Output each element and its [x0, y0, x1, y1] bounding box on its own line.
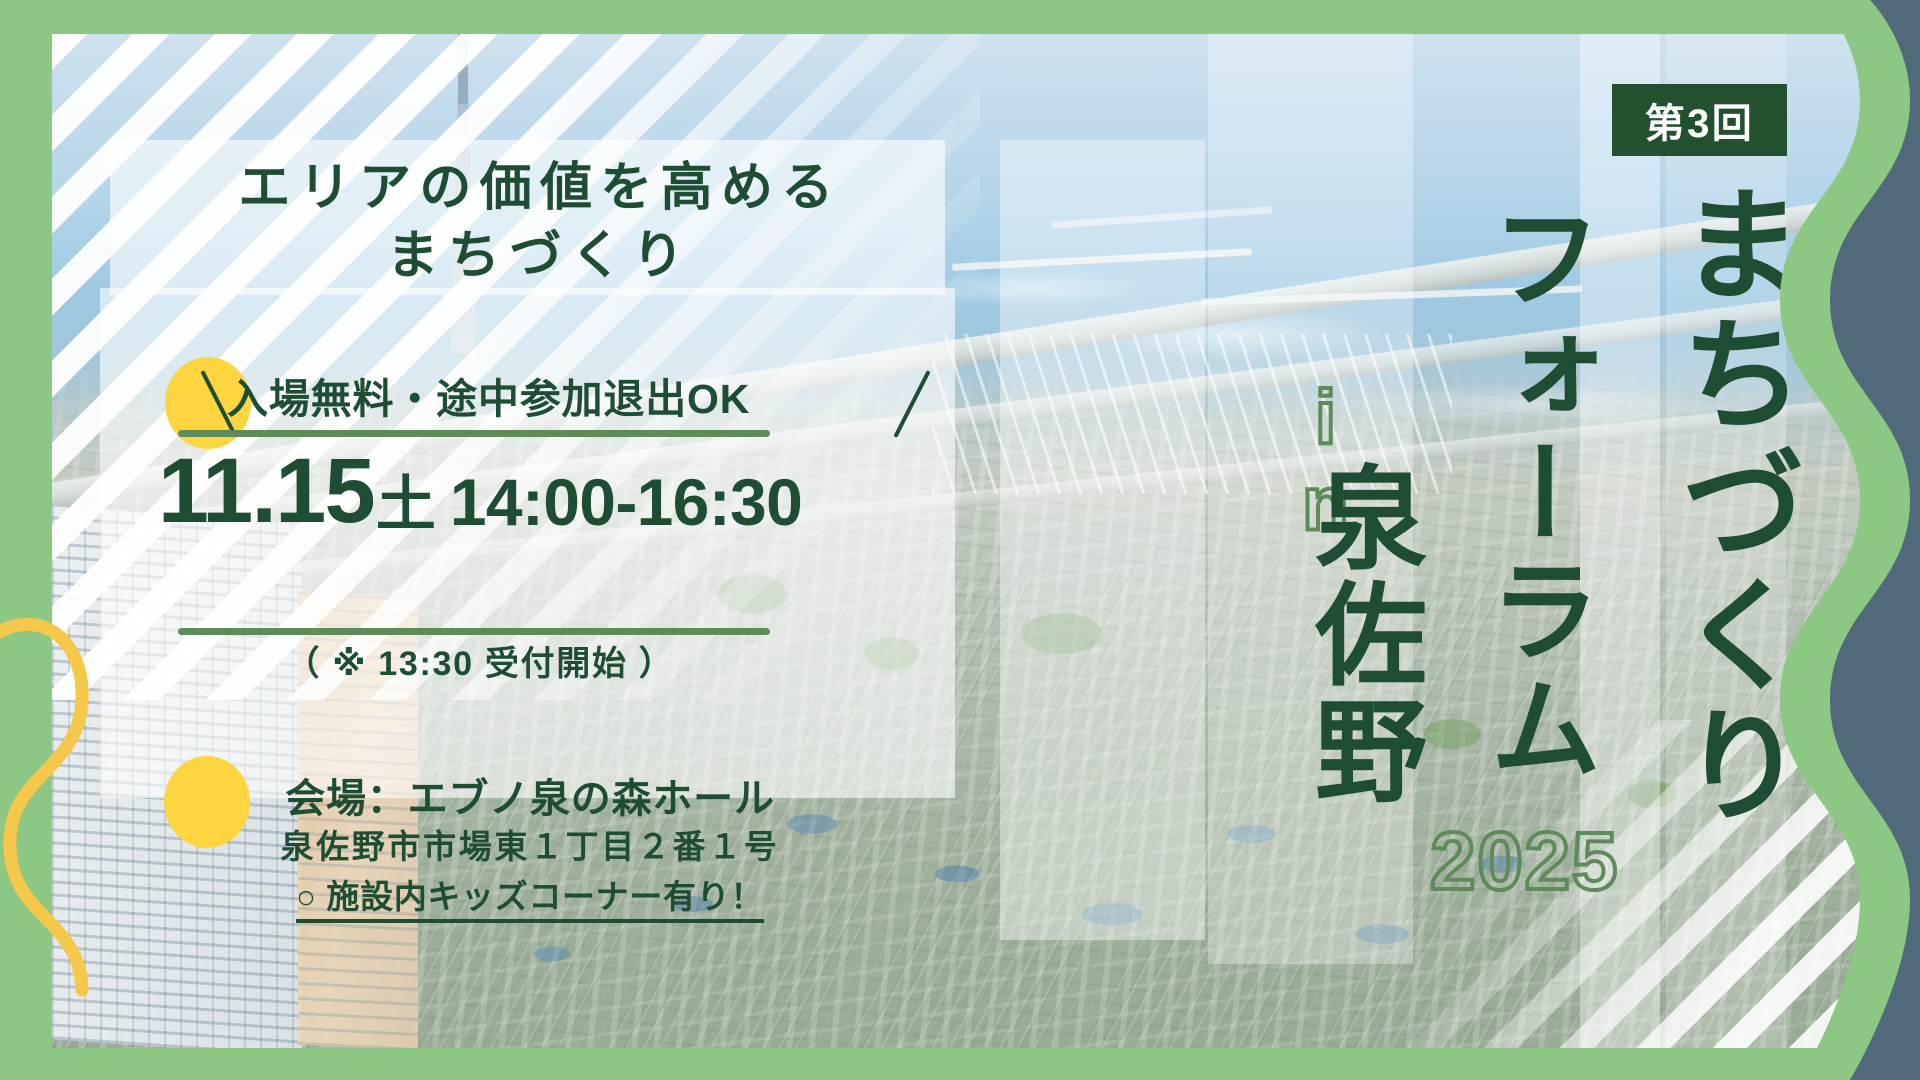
frame-right-waves [1740, 0, 1920, 1080]
yellow-squiggle-decor [0, 560, 130, 990]
vertical-title-place: 泉佐野 [1280, 460, 1442, 809]
vertical-title-year: 2025 [1430, 815, 1619, 909]
photo-tower-antenna [458, 34, 468, 104]
frame-bottom-bar [0, 1048, 1920, 1080]
date-weekday: 土 [376, 475, 436, 535]
free-admission-text: 入場無料・途中参加退出OK [227, 365, 750, 425]
date-day: 11.15 [158, 448, 374, 535]
venue-kids-corner-text: ○ 施設内キッズコーナー有り！ [296, 878, 764, 923]
venue-address: 泉佐野市市場東１丁目２番１号 [150, 820, 910, 868]
divider-bottom [178, 628, 770, 635]
headline-line-1: エリアの価値を高める [238, 159, 841, 217]
date-time: 14:00-16:30 [450, 469, 802, 535]
yellow-squiggle-path [0, 624, 82, 990]
date-line: 11.15 土 14:00-16:30 [170, 435, 790, 535]
venue-kids-corner: ○ 施設内キッズコーナー有り！ [150, 870, 910, 918]
frame-top-bar [0, 0, 1920, 34]
headline: エリアの価値を高める まちづくり [150, 155, 930, 290]
poster-root: エリアの価値を高める まちづくり 入場無料・途中参加退出OK 11.15 土 1… [0, 0, 1920, 1080]
headline-line-2: まちづくり [150, 223, 930, 291]
vertical-title-sub: フォーラム [1455, 200, 1617, 788]
slash-right-decor [893, 370, 930, 438]
venue-name: 会場：エブノ泉の森ホール [150, 766, 910, 824]
reception-note: （ ※ 13:30 受付開始 ） [170, 636, 790, 685]
